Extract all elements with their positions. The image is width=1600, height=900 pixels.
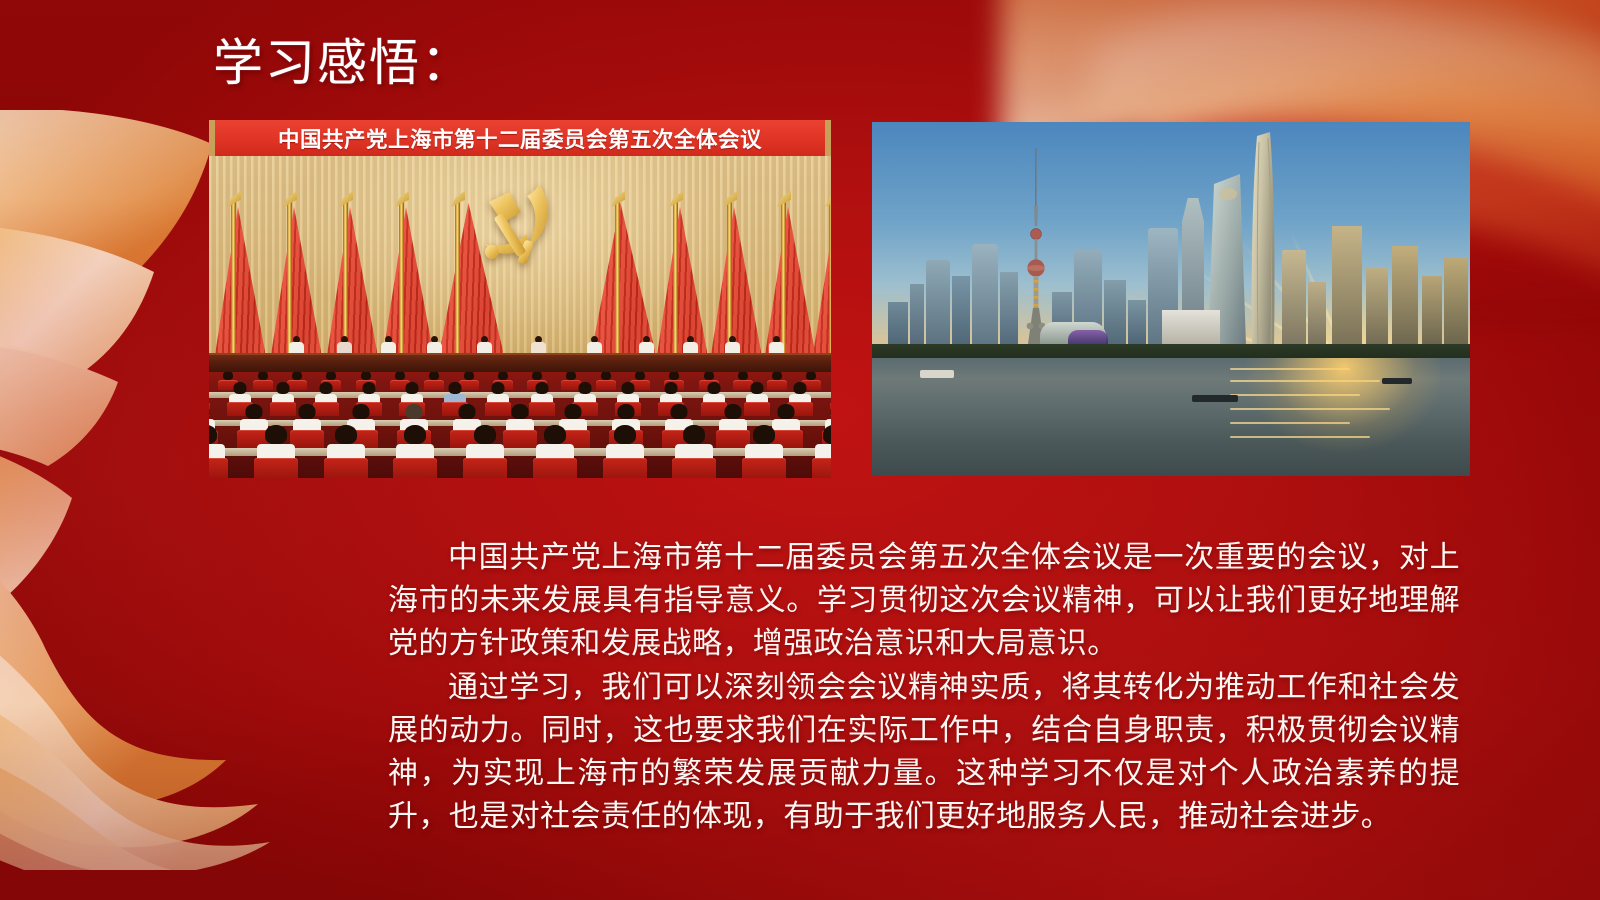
paragraph-1: 中国共产党上海市第十二届委员会第五次全体会议是一次重要的会议，对上海市的未来发展… bbox=[388, 536, 1460, 666]
shanghai-skyline-photo bbox=[872, 122, 1470, 476]
cargo-boat bbox=[1192, 395, 1238, 402]
page-title: 学习感悟： bbox=[213, 36, 473, 91]
study-reflection-text: 中国共产党上海市第十二届委员会第五次全体会议是一次重要的会议，对上海市的未来发展… bbox=[388, 536, 1460, 838]
ferry-boat bbox=[920, 370, 954, 378]
shanghai-tower bbox=[1248, 132, 1278, 346]
conference-hall-photo: 中国共产党上海市第十二届委员会第五次全体会议 bbox=[209, 120, 831, 478]
paragraph-2: 通过学习，我们可以深刻领会会议精神实质，将其转化为推动工作和社会发展的动力。同时… bbox=[388, 666, 1460, 839]
hammer-and-sickle-icon bbox=[477, 178, 563, 274]
conference-banner: 中国共产党上海市第十二届委员会第五次全体会议 bbox=[209, 120, 831, 156]
oriental-pearl-tower bbox=[1024, 148, 1048, 344]
cargo-boat bbox=[1382, 378, 1412, 384]
slide-canvas: 学习感悟： bbox=[0, 0, 1600, 900]
huangpu-river bbox=[872, 358, 1470, 476]
conference-banner-text: 中国共产党上海市第十二届委员会第五次全体会议 bbox=[278, 123, 762, 154]
audience-area bbox=[209, 372, 831, 478]
